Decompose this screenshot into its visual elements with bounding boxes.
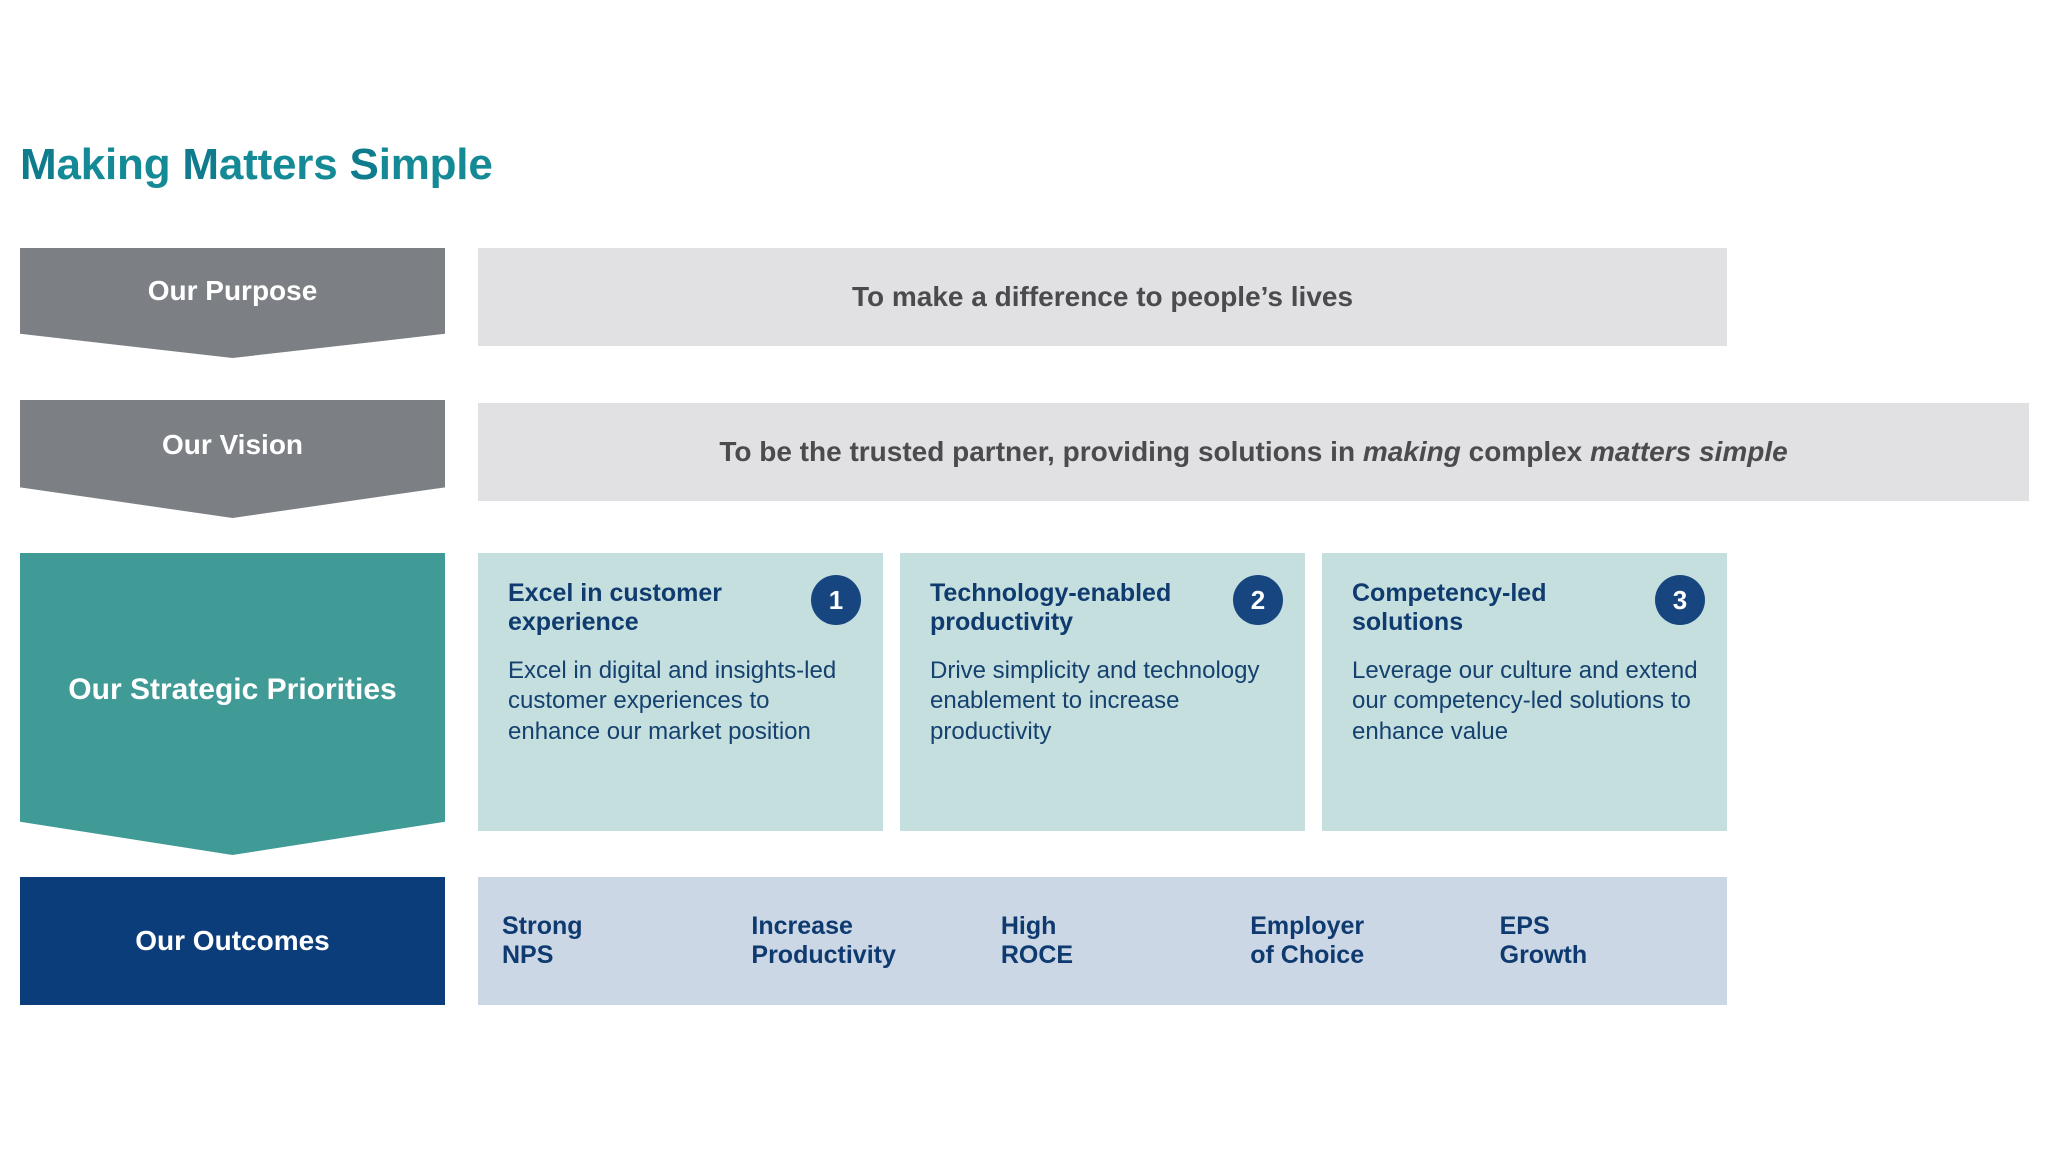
outcome-item: EPS Growth <box>1478 912 1727 971</box>
vision-emphasis-run: making <box>1363 436 1461 467</box>
row-label-text: Our Purpose <box>148 274 318 307</box>
title-cap-letter: M <box>20 140 56 189</box>
priority-card-body: Leverage our culture and extend our comp… <box>1352 656 1703 749</box>
priority-number-badge: 1 <box>811 575 861 625</box>
row-label-our-strategic-priorities: Our Strategic Priorities <box>20 553 445 855</box>
vision-statement-bar: To be the trusted partner, providing sol… <box>478 403 2029 501</box>
strategic-priority-cards: Excel in customer experience Excel in di… <box>478 553 1727 831</box>
priority-card-1[interactable]: Excel in customer experience Excel in di… <box>478 553 883 831</box>
page-title: Making Matters Simple <box>20 140 493 190</box>
priority-number-badge: 3 <box>1655 575 1705 625</box>
vision-emphasis-run: matters simple <box>1590 436 1788 467</box>
row-label-text: Our Vision <box>162 428 303 461</box>
purpose-statement-bar: To make a difference to people’s lives <box>478 248 1727 346</box>
vision-statement-text: To be the trusted partner, providing sol… <box>719 436 1787 468</box>
row-label-text: Our Strategic Priorities <box>68 672 396 707</box>
priority-card-heading: Technology-enabled productivity <box>930 579 1204 638</box>
priority-card-heading: Excel in customer experience <box>508 579 782 638</box>
vision-text-run: To be the trusted partner, providing sol… <box>719 436 1363 467</box>
title-cap-letter: S <box>350 140 379 189</box>
priority-card-body: Drive simplicity and technology enableme… <box>930 656 1281 749</box>
priority-card-body: Excel in digital and insights-led custom… <box>508 656 859 749</box>
row-label-text: Our Outcomes <box>135 924 329 957</box>
priority-card-2[interactable]: Technology-enabled productivity Drive si… <box>900 553 1305 831</box>
vision-text-run: complex <box>1461 436 1590 467</box>
title-cap-letter: M <box>182 140 218 189</box>
row-label-our-vision: Our Vision <box>20 400 445 518</box>
outcome-item: Increase Productivity <box>729 912 978 971</box>
purpose-statement-text: To make a difference to people’s lives <box>852 281 1353 313</box>
outcome-item: High ROCE <box>979 912 1228 971</box>
outcome-item: Employer of Choice <box>1228 912 1477 971</box>
priority-number-badge: 2 <box>1233 575 1283 625</box>
outcomes-bar: Strong NPS Increase Productivity High RO… <box>478 877 1727 1005</box>
title-text-run: imple <box>379 140 493 189</box>
outcome-item: Strong NPS <box>478 912 729 971</box>
priority-card-heading: Competency-led solutions <box>1352 579 1626 638</box>
title-text-run: atters <box>219 140 350 189</box>
row-label-our-outcomes: Our Outcomes <box>20 877 445 1005</box>
priority-card-3[interactable]: Competency-led solutions Leverage our cu… <box>1322 553 1727 831</box>
title-text-run: aking <box>56 140 182 189</box>
row-label-our-purpose: Our Purpose <box>20 248 445 358</box>
